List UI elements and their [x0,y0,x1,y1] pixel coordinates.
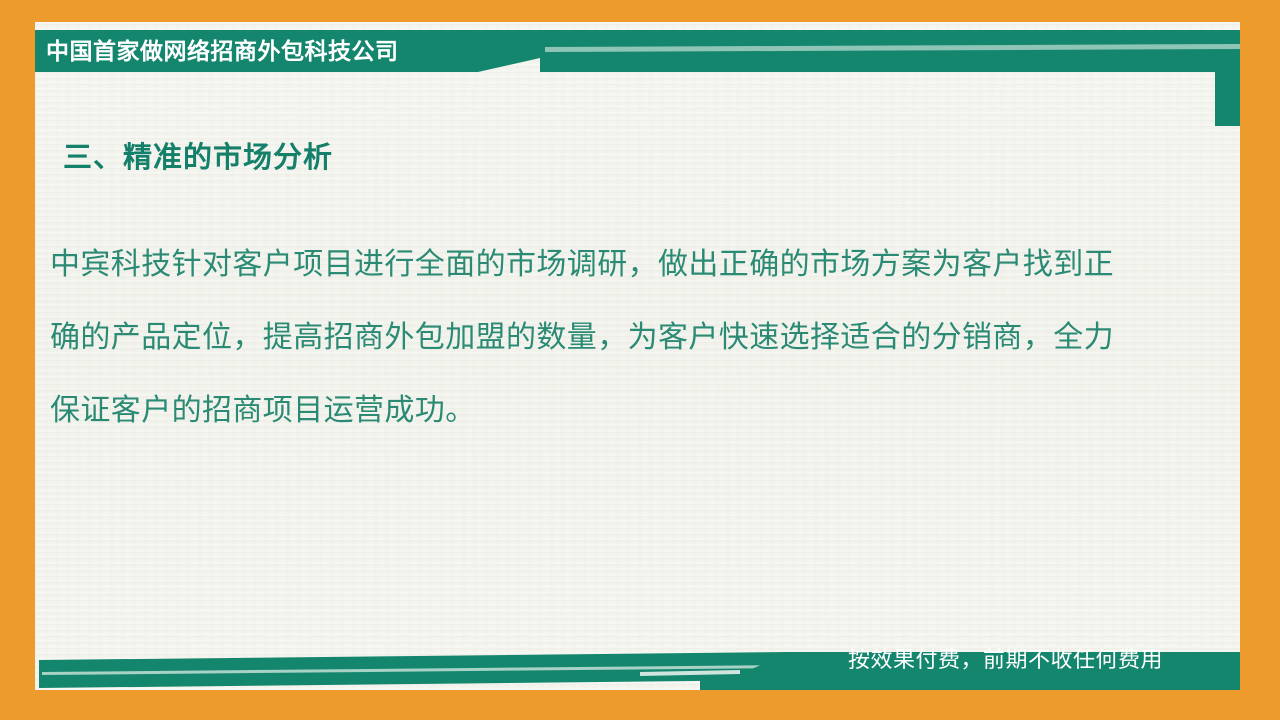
body-line: 确的产品定位，提高招商外包加盟的数量，为客户快速选择适合的分销商，全力 [50,301,1180,374]
body-line: 中宾科技针对客户项目进行全面的市场调研，做出正确的市场方案为客户找到正 [50,228,1180,301]
body-line: 保证客户的招商项目运营成功。 [50,374,1180,447]
slide-canvas: 中国首家做网络招商外包科技公司 三、精准的市场分析 中宾科技针对客户项目进行全面… [0,0,1280,720]
body-paragraph: 中宾科技针对客户项目进行全面的市场调研，做出正确的市场方案为客户找到正 确的产品… [50,228,1180,447]
header-banner-title: 中国首家做网络招商外包科技公司 [46,33,399,69]
page-title: 三、精准的市场分析 [63,134,333,176]
footer-slogan: 按效果付费，前期不收任何费用 [848,645,1163,675]
